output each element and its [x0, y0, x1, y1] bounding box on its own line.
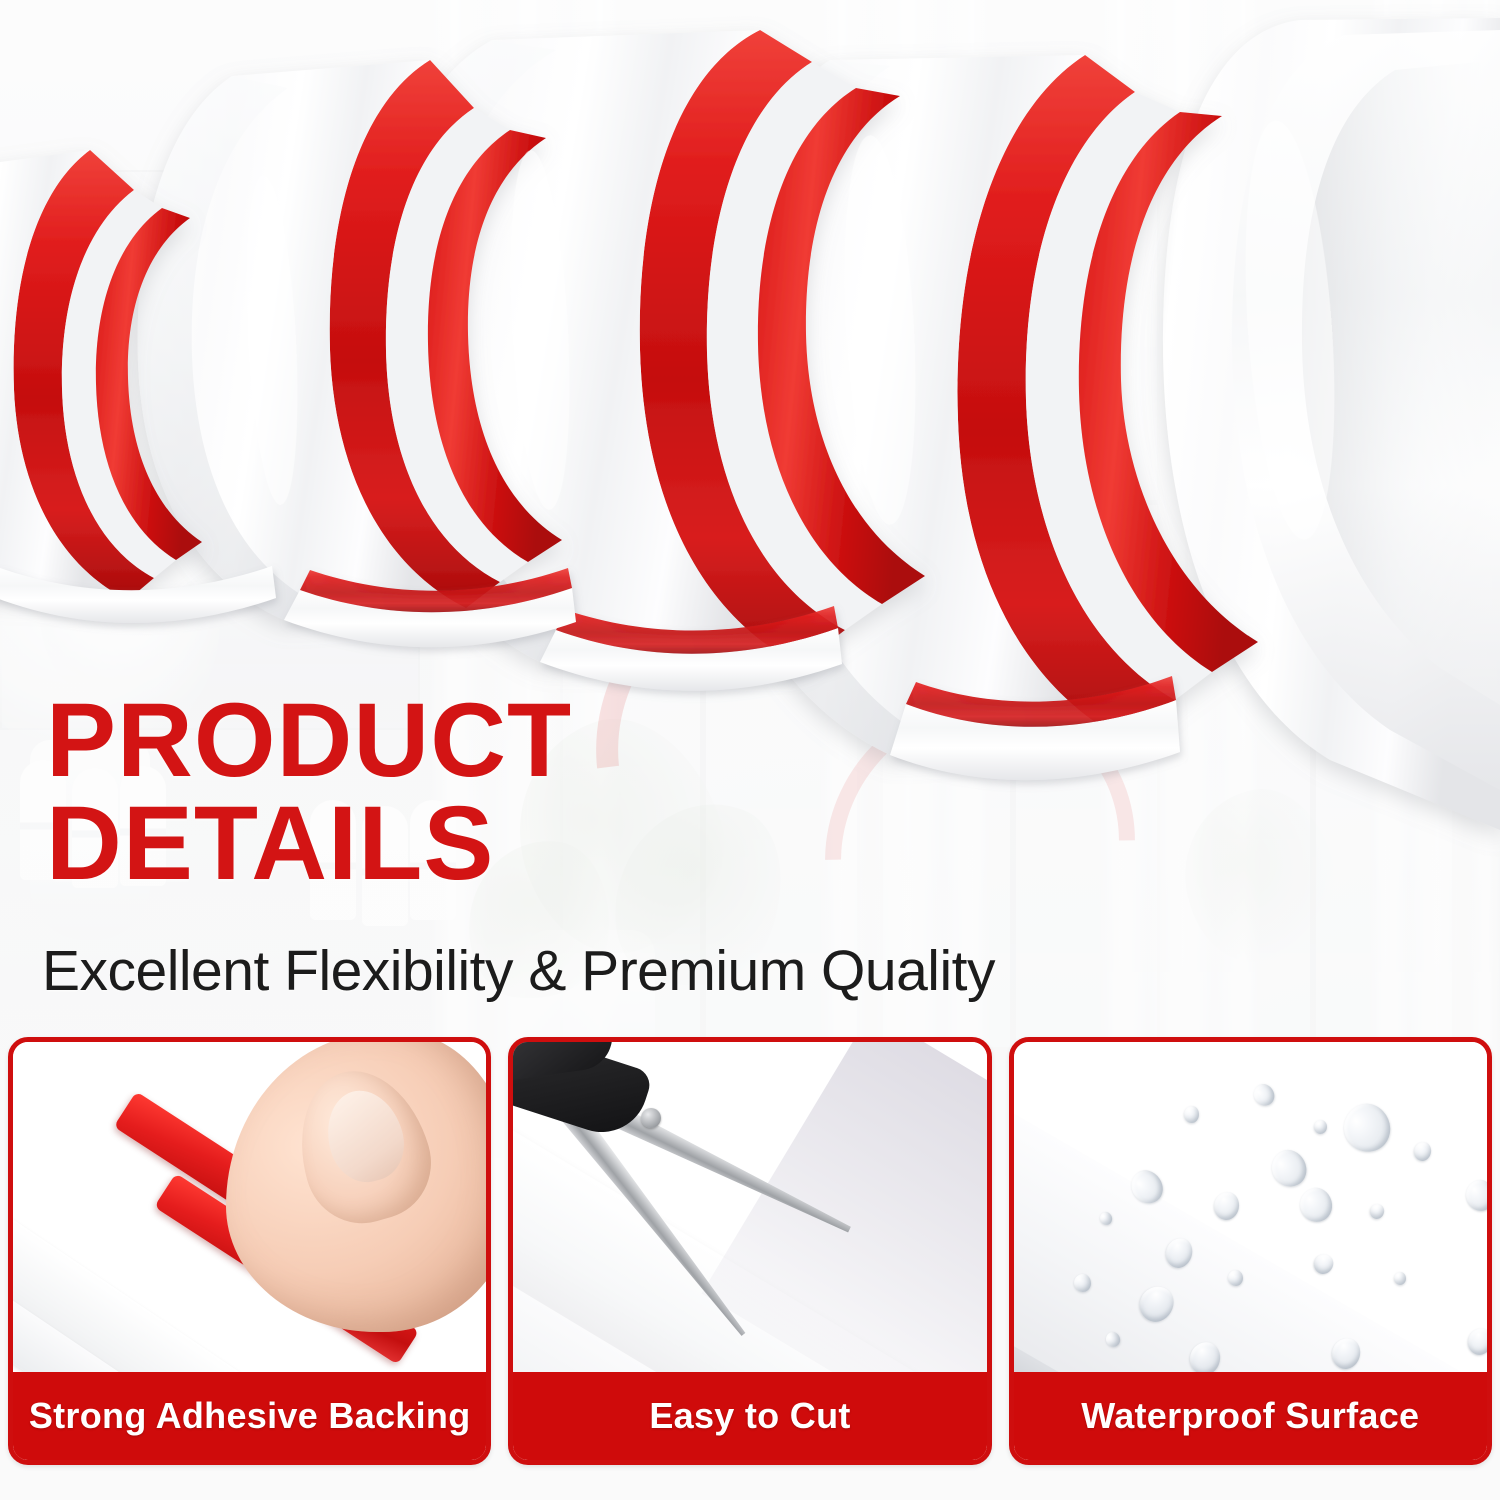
water-droplet	[1211, 1190, 1240, 1222]
headline-line-1: PRODUCT	[46, 690, 1026, 793]
product-detail-banner: PRODUCT DETAILS Excellent Flexibility & …	[0, 0, 1500, 1500]
water-droplet	[1313, 1119, 1327, 1134]
scissors-pivot-screw	[641, 1108, 661, 1128]
feature-caption-cut: Easy to Cut	[513, 1372, 986, 1460]
water-droplet	[1265, 1144, 1312, 1192]
caption-text: Easy to Cut	[649, 1395, 850, 1437]
water-droplet	[1227, 1270, 1243, 1287]
water-droplet	[1394, 1272, 1406, 1285]
water-droplet	[1336, 1097, 1397, 1159]
water-droplet	[1183, 1106, 1199, 1124]
tape-strip-white	[1014, 1102, 1487, 1372]
feature-image-scissors-cut	[513, 1042, 986, 1372]
feature-image-adhesive-peel	[13, 1042, 486, 1372]
feature-card-row: Strong Adhesive Backing Easy to Cut	[8, 1037, 1492, 1467]
page-title: PRODUCT DETAILS	[46, 690, 1026, 896]
water-droplet	[1463, 1178, 1487, 1214]
feature-card-adhesive[interactable]: Strong Adhesive Backing	[8, 1037, 491, 1465]
water-droplet	[1412, 1140, 1433, 1163]
page-subtitle: Excellent Flexibility & Premium Quality	[42, 938, 995, 1004]
feature-caption-waterproof: Waterproof Surface	[1014, 1372, 1487, 1460]
feature-caption-adhesive: Strong Adhesive Backing	[13, 1372, 486, 1460]
feature-card-cut[interactable]: Easy to Cut	[508, 1037, 991, 1465]
water-droplet	[1249, 1080, 1277, 1109]
water-droplet	[1296, 1184, 1336, 1225]
caption-text: Waterproof Surface	[1081, 1395, 1419, 1437]
water-droplet	[1367, 1202, 1386, 1221]
feature-image-water-droplets	[1014, 1042, 1487, 1372]
water-droplet	[1464, 1325, 1487, 1359]
water-droplet	[1310, 1250, 1337, 1277]
feature-card-waterproof[interactable]: Waterproof Surface	[1009, 1037, 1492, 1465]
caption-text: Strong Adhesive Backing	[29, 1395, 471, 1437]
headline-line-2: DETAILS	[46, 793, 1026, 896]
